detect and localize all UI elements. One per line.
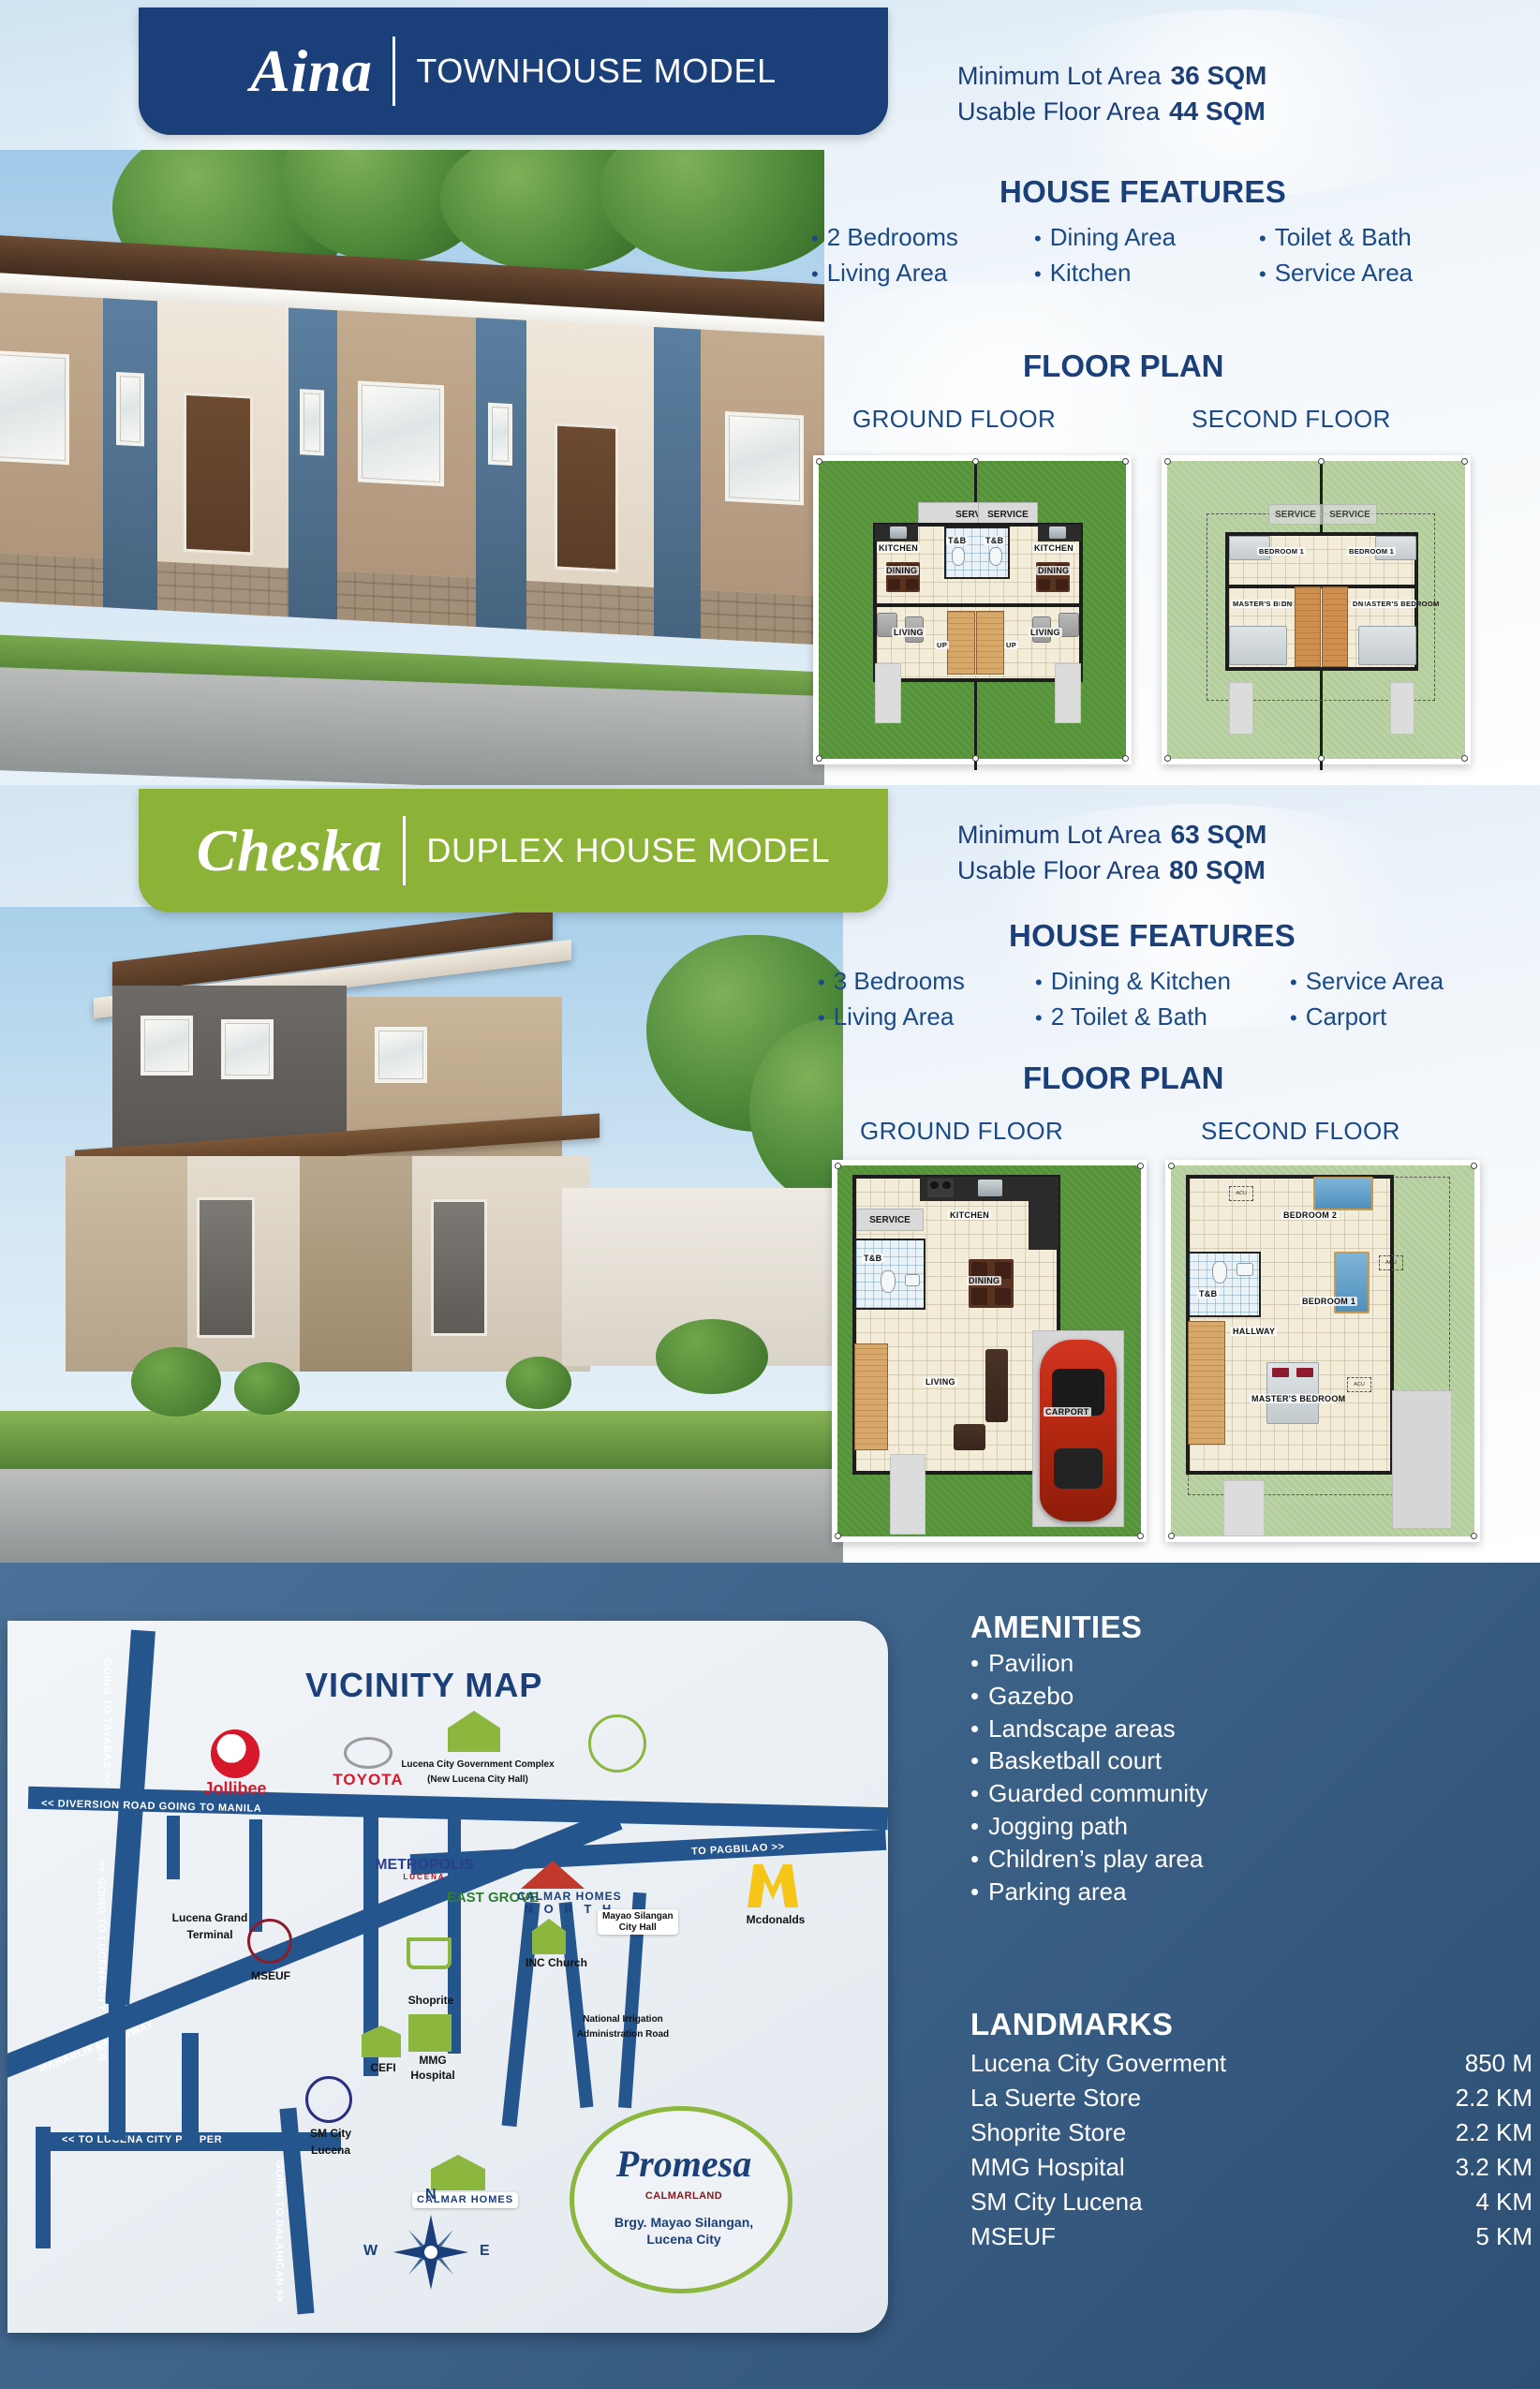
room-label: DINING bbox=[1036, 566, 1071, 575]
feature-label: 3 Bedrooms bbox=[834, 967, 965, 996]
brochure-page: Aina TOWNHOUSE MODEL Minimum Lot Area 36… bbox=[0, 0, 1540, 2389]
poi-label: SM City bbox=[289, 2127, 373, 2140]
cheska-min-lot-row: Minimum Lot Area 63 SQM bbox=[957, 817, 1266, 853]
poi-label: MMG bbox=[395, 2054, 470, 2067]
landmark-distance: 850 M bbox=[1465, 2046, 1533, 2081]
room-label: MASTER'S BEDROOM bbox=[1250, 1394, 1336, 1403]
cheska-exterior-photo bbox=[0, 907, 843, 1563]
poi-label: Administration Road bbox=[543, 2029, 703, 2040]
landmark-row: MMG Hospital3.2 KM bbox=[970, 2150, 1533, 2185]
room-label: SERVICE bbox=[869, 1215, 911, 1225]
amenity-label: Parking area bbox=[988, 1879, 1126, 1906]
feature-item: •Service Area bbox=[1290, 967, 1487, 996]
room-label: MASTER'S BEDROOM bbox=[1358, 600, 1416, 608]
mcdonalds-icon bbox=[748, 1864, 798, 1907]
cheska-features-title: HOUSE FEATURES bbox=[796, 918, 1508, 954]
compass-north: N bbox=[425, 2187, 437, 2204]
poi-label: Mcdonalds bbox=[719, 1913, 832, 1926]
feature-item: •Dining Area bbox=[1034, 223, 1259, 252]
road-label: GOING TO DALAHICAN >> bbox=[274, 2160, 285, 2303]
aina-ground-floor-label: GROUND FLOOR bbox=[852, 405, 1056, 434]
road-label: GOING TO TAYABAS >> bbox=[101, 1658, 112, 1786]
feature-item: •Dining & Kitchen bbox=[1035, 967, 1290, 996]
sm-logo-icon bbox=[305, 2076, 352, 2123]
vicinity-map-card: VICINITY MAP GOING TO TAYABAS >> << DIVE… bbox=[7, 1621, 888, 2333]
room-label: T&B bbox=[1197, 1289, 1219, 1298]
room-label: LIVING bbox=[924, 1377, 957, 1387]
feature-label: Dining & Kitchen bbox=[1051, 967, 1231, 996]
amenity-item: •Pavilion bbox=[970, 1651, 1533, 1677]
poi-label: Shoprite bbox=[386, 1994, 476, 2007]
cheska-features: HOUSE FEATURES •3 Bedrooms •Living Area … bbox=[796, 918, 1508, 1031]
cheska-second-floor-label: SECOND FLOOR bbox=[1201, 1117, 1400, 1146]
feature-item: •Toilet & Bath bbox=[1259, 223, 1474, 252]
government-building-icon bbox=[448, 1711, 500, 1752]
feature-label: Dining Area bbox=[1050, 223, 1176, 252]
feature-item: •2 Toilet & Bath bbox=[1035, 1002, 1290, 1031]
aina-min-lot-label: Minimum Lot Area bbox=[957, 59, 1162, 93]
landmark-name: MSEUF bbox=[970, 2219, 1056, 2254]
feature-label: Toilet & Bath bbox=[1275, 223, 1412, 252]
feature-label: Kitchen bbox=[1050, 259, 1132, 288]
feature-label: Service Area bbox=[1306, 967, 1444, 996]
cheska-floor-area-row: Usable Floor Area 80 SQM bbox=[957, 853, 1266, 888]
feature-label: 2 Bedrooms bbox=[827, 223, 958, 252]
room-label: SERVICE bbox=[987, 510, 1029, 520]
room-label: DN bbox=[1351, 600, 1365, 608]
calmar-homes-icon bbox=[431, 2155, 485, 2190]
amenity-label: Guarded community bbox=[988, 1781, 1207, 1807]
cheska-ground-floor-label: GROUND FLOOR bbox=[860, 1117, 1063, 1146]
room-label: UP bbox=[1004, 641, 1018, 649]
metropolis-logo: METROPOLIS LUCENA bbox=[363, 1857, 485, 1881]
landmarks-title: LANDMARKS bbox=[970, 2007, 1533, 2042]
room-label: BEDROOM 1 bbox=[1347, 547, 1396, 556]
promesa-address-line1: Brgy. Mayao Silangan, bbox=[615, 2215, 753, 2230]
landmark-distance: 2.2 KM bbox=[1456, 2081, 1533, 2115]
room-label: HALLWAY bbox=[1231, 1327, 1277, 1336]
feature-item: •Living Area bbox=[811, 259, 1034, 288]
poi-label: METROPOLIS bbox=[375, 1857, 474, 1873]
cheska-min-lot-value: 63 SQM bbox=[1171, 817, 1267, 853]
feature-item: •Carport bbox=[1290, 1002, 1487, 1031]
amenity-label: Jogging path bbox=[988, 1814, 1128, 1840]
room-label: DN bbox=[1280, 600, 1294, 608]
poi-label: (New Lucena City Hall) bbox=[386, 1774, 570, 1786]
poi-label: Jollibee bbox=[203, 1779, 266, 1798]
feature-item: •Living Area bbox=[818, 1002, 1035, 1031]
landmark-distance: 3.2 KM bbox=[1456, 2150, 1533, 2185]
feature-label: Living Area bbox=[827, 259, 948, 288]
amenities-block: AMENITIES •Pavilion •Gazebo •Landscape a… bbox=[970, 1610, 1533, 1912]
amenity-item: •Jogging path bbox=[970, 1814, 1533, 1840]
room-label: BEDROOM 1 bbox=[1300, 1297, 1357, 1306]
oasis-logo-icon bbox=[588, 1714, 646, 1773]
room-label: LIVING bbox=[1029, 628, 1062, 637]
compass-east: E bbox=[480, 2243, 490, 2260]
amenity-item: •Children’s play area bbox=[970, 1847, 1533, 1873]
landmark-distance: 5 KM bbox=[1475, 2219, 1533, 2254]
aina-min-lot-row: Minimum Lot Area 36 SQM bbox=[957, 58, 1266, 94]
aina-ground-floor-plan: SERVICE SERVICE T&B T&B KITCHEN KITCHEN bbox=[813, 455, 1132, 764]
amenity-label: Gazebo bbox=[988, 1684, 1074, 1710]
landmark-row: Shoprite Store2.2 KM bbox=[970, 2115, 1533, 2150]
poi-label: Hospital bbox=[395, 2069, 470, 2082]
cheska-title-tag: Cheska DUPLEX HOUSE MODEL bbox=[139, 789, 888, 913]
amenity-label: Landscape areas bbox=[988, 1716, 1175, 1743]
aina-floor-area-row: Usable Floor Area 44 SQM bbox=[957, 94, 1266, 129]
room-label: CARPORT bbox=[1044, 1407, 1091, 1417]
room-label: T&B bbox=[984, 536, 1005, 545]
aina-min-lot-value: 36 SQM bbox=[1171, 58, 1267, 94]
aina-exterior-photo bbox=[0, 150, 824, 785]
poi-label: INC Church bbox=[491, 1956, 622, 1969]
cheska-model-name: Cheska bbox=[197, 821, 404, 881]
feature-item: •Service Area bbox=[1259, 259, 1474, 288]
compass-west: W bbox=[363, 2243, 378, 2260]
feature-item: •Kitchen bbox=[1034, 259, 1259, 288]
promesa-address: Brgy. Mayao Silangan, Lucena City bbox=[571, 2215, 796, 2248]
room-label: KITCHEN bbox=[948, 1210, 991, 1220]
road-tayabas bbox=[105, 1630, 155, 2006]
title-divider bbox=[403, 816, 406, 885]
poi-label: LUCENA bbox=[363, 1874, 485, 1882]
room-label: DINING bbox=[967, 1276, 1001, 1285]
poi-label: Lucena City Government Complex bbox=[386, 1759, 570, 1771]
aina-area-block: Minimum Lot Area 36 SQM Usable Floor Are… bbox=[957, 58, 1266, 128]
aina-floor-area-label: Usable Floor Area bbox=[957, 95, 1160, 128]
landmark-name: MMG Hospital bbox=[970, 2150, 1125, 2185]
poi-label: MSEUF bbox=[229, 1969, 313, 1982]
landmark-row: SM City Lucena4 KM bbox=[970, 2185, 1533, 2219]
jollibee-icon: Jollibee bbox=[184, 1729, 287, 1799]
room-label: MASTER'S BEDROOM bbox=[1231, 600, 1287, 608]
aina-features: HOUSE FEATURES •2 Bedrooms •Living Area … bbox=[806, 174, 1480, 288]
cheska-floor-area-label: Usable Floor Area bbox=[957, 853, 1160, 887]
vicinity-map-title: VICINITY MAP bbox=[305, 1666, 542, 1705]
poi-label: CALMAR HOMES bbox=[517, 1890, 621, 1903]
room-label: SERVICE bbox=[1275, 510, 1316, 520]
feature-label: Service Area bbox=[1275, 259, 1413, 288]
amenity-item: •Gazebo bbox=[970, 1684, 1533, 1710]
mmg-hospital-icon bbox=[408, 2014, 452, 2052]
aina-title-tag: Aina TOWNHOUSE MODEL bbox=[139, 7, 888, 135]
amenity-item: •Landscape areas bbox=[970, 1716, 1533, 1743]
cheska-model-type: DUPLEX HOUSE MODEL bbox=[426, 831, 830, 870]
poi-label: Mayao Silangan bbox=[602, 1911, 674, 1922]
landmark-row: Lucena City Goverment850 M bbox=[970, 2046, 1533, 2081]
landmark-row: La Suerte Store2.2 KM bbox=[970, 2081, 1533, 2115]
cheska-floor-area-value: 80 SQM bbox=[1169, 853, 1266, 888]
aina-second-floor-label: SECOND FLOOR bbox=[1192, 405, 1391, 434]
mseuf-seal-icon bbox=[247, 1919, 292, 1964]
cheska-area-block: Minimum Lot Area 63 SQM Usable Floor Are… bbox=[957, 817, 1266, 887]
amenity-item: •Parking area bbox=[970, 1879, 1533, 1906]
shoprite-cart-icon bbox=[407, 1937, 452, 1969]
landmark-name: SM City Lucena bbox=[970, 2185, 1143, 2219]
poi-label: City Hall bbox=[619, 1922, 657, 1933]
title-divider bbox=[392, 37, 395, 106]
amenity-item: •Basketball court bbox=[970, 1748, 1533, 1774]
cheska-section: Cheska DUPLEX HOUSE MODEL Minimum Lot Ar… bbox=[0, 785, 1540, 1563]
aina-floorplan-title: FLOOR PLAN bbox=[1023, 349, 1223, 384]
room-label: KITCHEN bbox=[1032, 543, 1075, 553]
promesa-logo-name: Promesa bbox=[581, 2142, 787, 2186]
feature-label: Living Area bbox=[834, 1002, 955, 1031]
landmarks-block: LANDMARKS Lucena City Goverment850 M La … bbox=[970, 2007, 1533, 2253]
aina-features-title: HOUSE FEATURES bbox=[806, 174, 1480, 210]
compass-rose: N E W bbox=[380, 2202, 481, 2303]
room-label: DINING bbox=[884, 566, 919, 575]
landmark-row: MSEUF5 KM bbox=[970, 2219, 1533, 2254]
landmark-name: La Suerte Store bbox=[970, 2081, 1141, 2115]
room-label: KITCHEN bbox=[877, 543, 920, 553]
aina-model-type: TOWNHOUSE MODEL bbox=[416, 52, 776, 91]
aina-floor-area-value: 44 SQM bbox=[1169, 94, 1266, 129]
feature-item: •2 Bedrooms bbox=[811, 223, 1034, 252]
room-label: T&B bbox=[862, 1254, 883, 1263]
amenities-title: AMENITIES bbox=[970, 1610, 1533, 1645]
cheska-second-floor-plan: BEDROOM 2 ACU T&B ACU BEDROOM 1 HALLWAY … bbox=[1165, 1160, 1480, 1542]
room-label: BEDROOM 1 bbox=[1257, 547, 1306, 556]
promesa-address-line2: Lucena City bbox=[646, 2232, 720, 2247]
amenity-label: Basketball court bbox=[988, 1748, 1162, 1774]
room-label: SERVICE bbox=[1329, 510, 1370, 520]
poi-label: National Irrigation bbox=[543, 2014, 703, 2025]
room-label: LIVING bbox=[892, 628, 925, 637]
landmark-distance: 4 KM bbox=[1475, 2185, 1533, 2219]
aina-second-floor-plan: SERVICE SERVICE BEDROOM 1 BEDROOM 1 MAST… bbox=[1162, 455, 1471, 764]
feature-label: 2 Toilet & Bath bbox=[1051, 1002, 1207, 1031]
cheska-ground-floor-plan: KITCHEN SERVICE T&B DINING LIVING CARPOR… bbox=[832, 1160, 1147, 1542]
aina-section: Aina TOWNHOUSE MODEL Minimum Lot Area 36… bbox=[0, 0, 1540, 785]
feature-item: •3 Bedrooms bbox=[818, 967, 1035, 996]
feature-label: Carport bbox=[1306, 1002, 1387, 1031]
landmark-name: Shoprite Store bbox=[970, 2115, 1126, 2150]
amenity-label: Pavilion bbox=[988, 1651, 1074, 1677]
room-label: UP bbox=[935, 641, 949, 649]
promesa-developer: CALMARLAND bbox=[581, 2190, 787, 2202]
amenity-label: Children’s play area bbox=[988, 1847, 1203, 1873]
landmark-distance: 2.2 KM bbox=[1456, 2115, 1533, 2150]
poi-label: Lucena bbox=[289, 2144, 373, 2157]
amenity-item: •Guarded community bbox=[970, 1781, 1533, 1807]
cheska-min-lot-label: Minimum Lot Area bbox=[957, 818, 1162, 852]
room-label: T&B bbox=[946, 536, 968, 545]
cheska-floorplan-title: FLOOR PLAN bbox=[1023, 1061, 1223, 1096]
landmark-name: Lucena City Goverment bbox=[970, 2046, 1226, 2081]
room-label: BEDROOM 2 bbox=[1281, 1210, 1339, 1220]
aina-model-name: Aina bbox=[250, 41, 392, 101]
